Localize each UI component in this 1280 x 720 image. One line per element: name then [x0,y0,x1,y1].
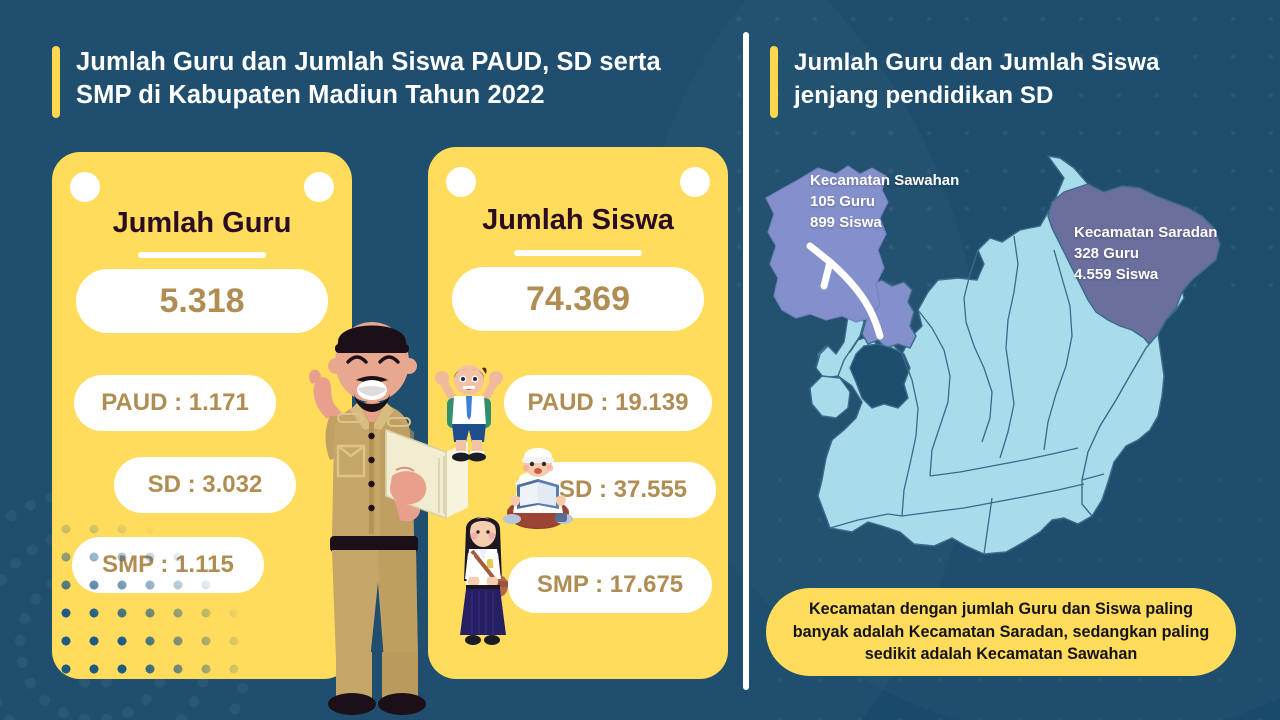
card-siswa-row-paud: PAUD : 19.139 [504,375,712,431]
map-label-sawahan-siswa: 899 Siswa [810,212,959,233]
card-punch-hole-right [680,167,710,197]
right-title: Jumlah Guru dan Jumlah Siswa jenjang pen… [770,46,1240,118]
right-title-accent-bar [770,46,778,118]
left-title-text: Jumlah Guru dan Jumlah Siswa PAUD, SD se… [76,46,712,112]
card-siswa-title: Jumlah Siswa [428,204,728,237]
vertical-divider [743,32,749,690]
map-label-sawahan-name: Kecamatan Sawahan [810,170,959,191]
card-guru-row-paud: PAUD : 1.171 [74,375,276,431]
card-guru-row-smp: SMP : 1.115 [72,537,264,593]
card-guru-title: Jumlah Guru [52,207,352,240]
right-title-text: Jumlah Guru dan Jumlah Siswa jenjang pen… [794,46,1240,112]
map-kabupaten-madiun: Kecamatan Sawahan 105 Guru 899 Siswa Kec… [752,140,1264,570]
card-punch-hole-left [446,167,476,197]
left-title: Jumlah Guru dan Jumlah Siswa PAUD, SD se… [52,46,712,118]
map-label-saradan-name: Kecamatan Saradan [1074,222,1217,243]
card-siswa-rule [514,250,642,256]
map-label-sawahan: Kecamatan Sawahan 105 Guru 899 Siswa [810,170,959,233]
map-region-west-lobe2 [810,376,850,418]
left-title-accent-bar [52,46,60,118]
card-punch-hole-right [304,172,334,202]
map-label-saradan-guru: 328 Guru [1074,243,1217,264]
card-punch-hole-left [70,172,100,202]
student-boy-cheering-illustration [432,358,506,462]
card-siswa-total: 74.369 [452,267,704,331]
map-caption: Kecamatan dengan jumlah Guru dan Siswa p… [766,588,1236,676]
map-label-saradan: Kecamatan Saradan 328 Guru 4.559 Siswa [1074,222,1217,285]
student-girl-illustration [452,507,514,649]
card-siswa-row-smp: SMP : 17.675 [508,557,712,613]
infographic-canvas: Jumlah Guru dan Jumlah Siswa PAUD, SD se… [0,0,1280,720]
map-label-sawahan-guru: 105 Guru [810,191,959,212]
map-label-saradan-siswa: 4.559 Siswa [1074,264,1217,285]
card-guru-rule [138,252,266,258]
